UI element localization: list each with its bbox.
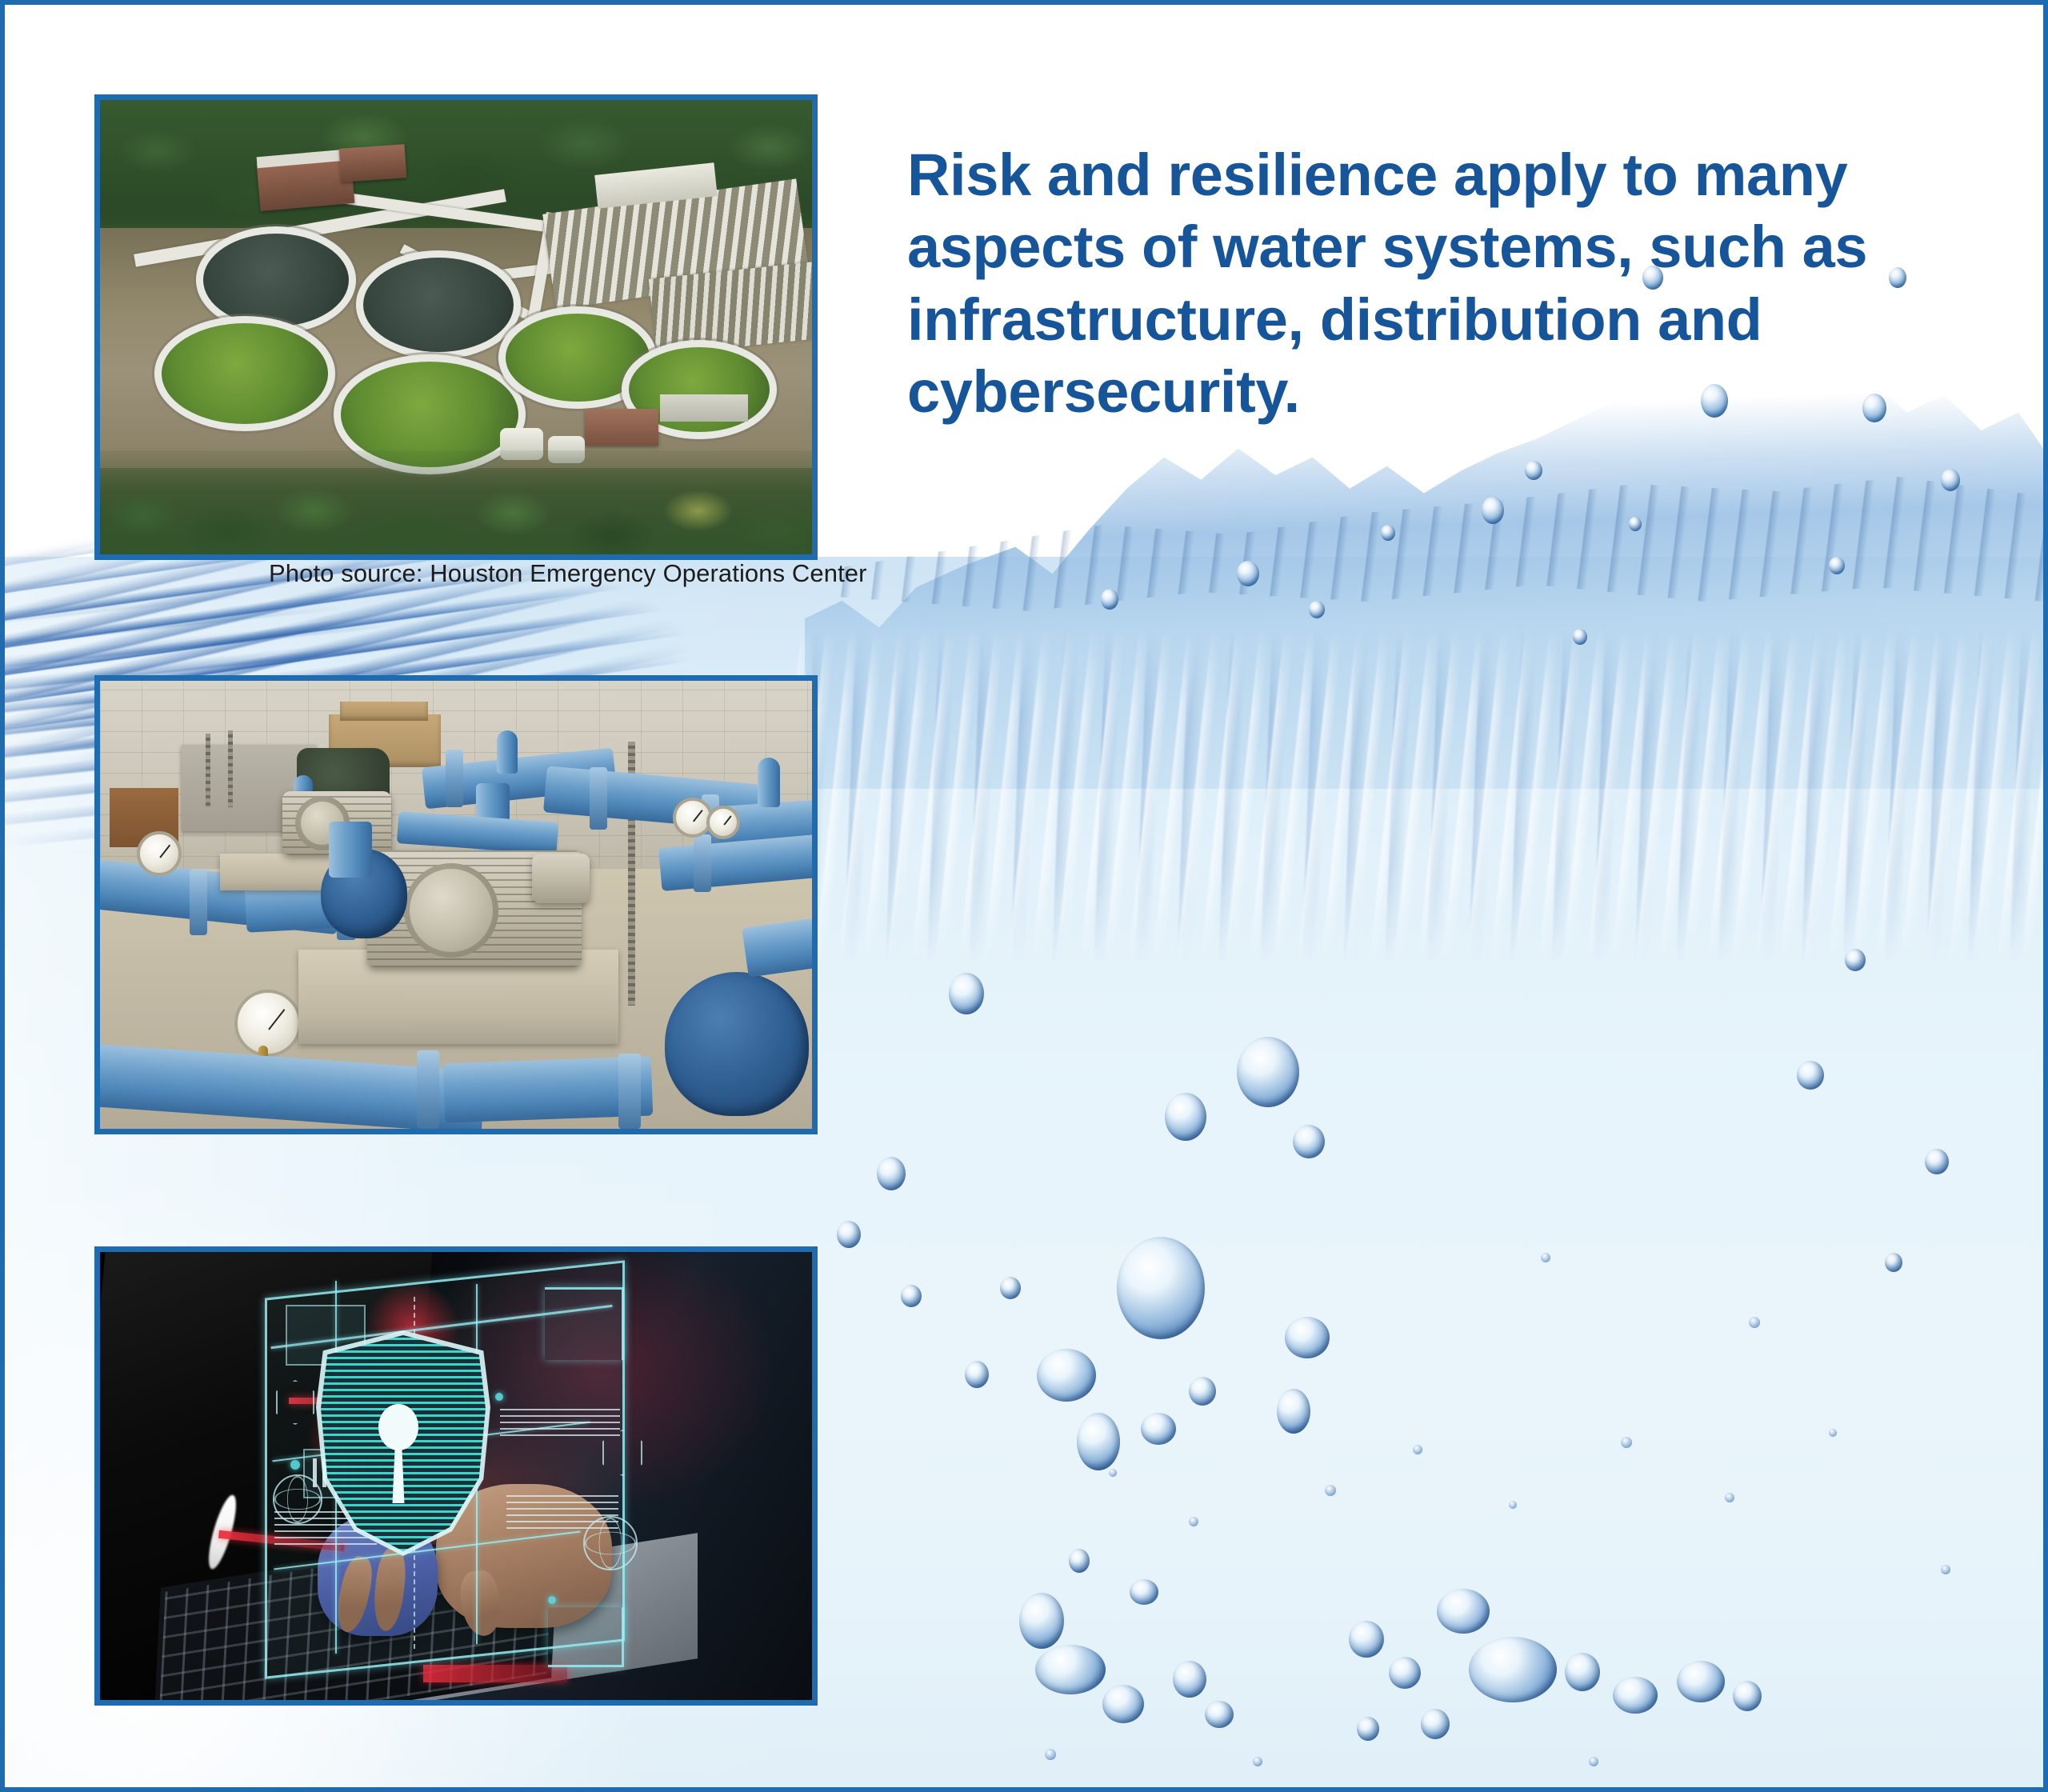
pipe-flange xyxy=(618,1054,641,1129)
pressure-gauge xyxy=(706,806,740,839)
tree-canopy-lower xyxy=(100,450,812,554)
pressure-gauge xyxy=(234,990,302,1057)
air-bubble xyxy=(1677,1661,1725,1702)
air-bubble xyxy=(1325,1485,1336,1496)
air-bubble xyxy=(1733,1681,1762,1711)
hud-corner-bracket xyxy=(548,1607,624,1667)
air-bubble xyxy=(1509,1501,1517,1509)
air-bubble xyxy=(1413,1445,1422,1454)
water-droplet xyxy=(1237,561,1259,586)
air-bubble xyxy=(1037,1349,1096,1402)
air-bubble xyxy=(1621,1437,1632,1448)
water-droplet xyxy=(1525,461,1542,480)
page-title: Risk and resilience apply to many aspect… xyxy=(907,139,1971,428)
air-bubble xyxy=(1277,1389,1310,1434)
air-bubble xyxy=(1469,1637,1557,1702)
air-bubble xyxy=(1102,1685,1144,1723)
level-indicator-rod xyxy=(228,730,233,807)
photo-flooded-water-treatment-plant[interactable] xyxy=(94,94,818,560)
air-bubble xyxy=(1941,1565,1950,1574)
air-bubble xyxy=(1437,1589,1490,1634)
air-bubble xyxy=(949,973,984,1014)
motor-end-bell xyxy=(404,863,498,958)
air-bubble xyxy=(1357,1717,1379,1741)
air-bubble xyxy=(1189,1377,1216,1406)
pipe-flange xyxy=(417,1050,439,1129)
pressure-gauge xyxy=(137,831,182,876)
air-release-valve xyxy=(758,758,780,807)
air-bubble xyxy=(1035,1645,1106,1694)
air-bubble xyxy=(1613,1677,1658,1714)
air-bubble xyxy=(1077,1413,1120,1470)
air-bubble xyxy=(1421,1709,1450,1739)
globe-icon xyxy=(583,1516,638,1570)
hud-corner-bracket xyxy=(545,1287,624,1360)
level-indicator-rod xyxy=(206,734,210,807)
air-bubble xyxy=(1069,1549,1090,1573)
hud-status-dot xyxy=(290,1460,300,1470)
photo-cybersecurity-image xyxy=(100,1252,812,1700)
plant-building xyxy=(585,409,658,446)
photo-flooded-water-treatment-plant-image xyxy=(100,100,812,554)
photo-source-caption: Photo source: Houston Emergency Operatio… xyxy=(269,559,867,588)
air-bubble xyxy=(1205,1701,1234,1728)
globe-icon xyxy=(273,1474,322,1524)
water-droplet xyxy=(1309,601,1325,618)
water-droplet xyxy=(1573,629,1587,645)
air-bubble xyxy=(1925,1149,1949,1174)
air-bubble xyxy=(1541,1253,1550,1262)
clarifier-tank xyxy=(356,250,521,359)
cardboard-boxes xyxy=(340,702,428,721)
air-bubble xyxy=(1141,1413,1176,1445)
air-bubble xyxy=(1349,1621,1384,1658)
pump-volute-casing xyxy=(665,972,809,1116)
air-bubble xyxy=(1565,1653,1600,1691)
air-bubble xyxy=(1019,1593,1064,1649)
air-release-valve xyxy=(497,730,518,774)
air-bubble xyxy=(1589,1757,1598,1766)
water-surface-ripples xyxy=(789,629,2043,965)
plant-building xyxy=(339,144,407,182)
red-status-bar xyxy=(423,1665,567,1682)
air-bubble xyxy=(1045,1749,1056,1760)
air-bubble xyxy=(965,1361,989,1388)
air-bubble xyxy=(1173,1661,1206,1698)
pipe-flange xyxy=(190,870,207,935)
hud-data-lines xyxy=(500,1404,620,1436)
water-droplet xyxy=(1829,557,1845,574)
photo-pump-station-image xyxy=(100,681,812,1129)
pump-suction-pipe xyxy=(329,822,372,878)
air-bubble xyxy=(1000,1277,1021,1299)
water-droplet xyxy=(1101,589,1118,610)
air-bubble xyxy=(1829,1429,1837,1437)
air-bubble xyxy=(1237,1037,1299,1107)
air-bubble xyxy=(1845,949,1866,971)
water-droplet xyxy=(1381,525,1395,541)
pipe-flange xyxy=(694,834,711,892)
air-bubble xyxy=(1797,1061,1824,1090)
air-bubble xyxy=(1749,1317,1760,1328)
air-bubble xyxy=(901,1285,922,1307)
water-droplet xyxy=(1941,469,1960,491)
air-bubble xyxy=(1389,1657,1421,1689)
photo-cybersecurity-laptop[interactable] xyxy=(94,1246,818,1706)
hud-status-dot xyxy=(495,1393,503,1401)
pipe-flange xyxy=(590,767,607,830)
air-bubble xyxy=(1109,1469,1117,1477)
air-bubble xyxy=(1725,1493,1734,1502)
clarifier-tank xyxy=(154,316,335,431)
air-bubble xyxy=(1165,1093,1206,1141)
air-bubble xyxy=(837,1221,861,1248)
hud-status-dot xyxy=(548,1596,556,1604)
water-droplet xyxy=(1482,497,1504,524)
slide-canvas: Photo source: Houston Emergency Operatio… xyxy=(0,0,2048,1792)
air-bubble xyxy=(1130,1579,1158,1605)
air-bubble xyxy=(1885,1253,1902,1272)
air-bubble xyxy=(1253,1757,1262,1766)
motor-terminal-box xyxy=(532,854,590,903)
air-bubble xyxy=(1293,1125,1325,1158)
water-droplet xyxy=(1629,517,1642,531)
air-bubble xyxy=(1117,1237,1205,1339)
air-bubble xyxy=(1285,1317,1330,1358)
pipe-flange xyxy=(446,750,463,807)
photo-pump-station-interior[interactable] xyxy=(94,675,818,1134)
plant-building-roof xyxy=(660,394,748,422)
air-bubble xyxy=(1189,1517,1198,1526)
air-bubble xyxy=(877,1157,906,1190)
